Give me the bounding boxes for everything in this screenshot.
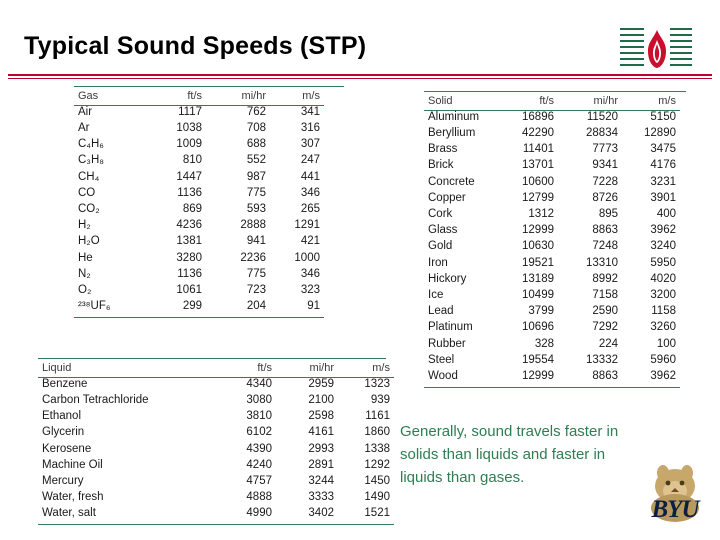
material-name: Lead (424, 304, 498, 320)
material-name: ²³⁸UF₆ (74, 299, 144, 315)
speed-value: 421 (270, 234, 324, 250)
material-name: C₄H₆ (74, 137, 144, 153)
table-row: Concrete1060072283231 (424, 174, 680, 190)
table-row: Gold1063072483240 (424, 239, 680, 255)
table-row: Aluminum16896115205150 (424, 109, 680, 125)
table-row: O₂1061723323 (74, 282, 324, 298)
table-row: Machine Oil424028911292 (38, 457, 394, 473)
speed-value: 7228 (558, 174, 622, 190)
material-name: C₃H₈ (74, 153, 144, 169)
speed-value: 16896 (498, 109, 558, 125)
speed-value: 2891 (276, 457, 338, 473)
slide: Typical Sound Speeds (STP) Gasft/smi/hrm… (0, 0, 720, 540)
speed-value: 91 (270, 299, 324, 315)
speed-value: 1291 (270, 218, 324, 234)
material-name: Brick (424, 158, 498, 174)
title-divider (8, 74, 712, 76)
speed-value: 6102 (216, 425, 276, 441)
column-header: Liquid (38, 360, 216, 376)
speed-value: 4757 (216, 473, 276, 489)
speed-value: 10600 (498, 174, 558, 190)
gases-table: Gasft/smi/hrm/sAir1117762341Ar1038708316… (74, 88, 324, 315)
table-row: N₂1136775346 (74, 266, 324, 282)
speed-value: 7248 (558, 239, 622, 255)
speed-value: 323 (270, 282, 324, 298)
material-name: Glycerin (38, 425, 216, 441)
speed-value: 19554 (498, 352, 558, 368)
column-header: ft/s (144, 88, 206, 104)
table-row: CH₄1447987441 (74, 169, 324, 185)
speed-value: 3799 (498, 304, 558, 320)
summary-note: Generally, sound travels faster in solid… (400, 420, 650, 489)
speed-value: 939 (338, 392, 394, 408)
solids-table-bottom-rule (424, 387, 680, 388)
speed-value: 869 (144, 201, 206, 217)
table-row: He328022361000 (74, 250, 324, 266)
speed-value: 13310 (558, 255, 622, 271)
speed-value: 19521 (498, 255, 558, 271)
material-name: Concrete (424, 174, 498, 190)
speed-value: 1009 (144, 137, 206, 153)
material-name: Benzene (38, 376, 216, 392)
material-name: Mercury (38, 473, 216, 489)
material-name: Machine Oil (38, 457, 216, 473)
speed-value: 346 (270, 266, 324, 282)
speed-value: 8863 (558, 223, 622, 239)
speed-value: 7773 (558, 142, 622, 158)
byu-logo: BYU (636, 462, 714, 534)
speed-value: 4340 (216, 376, 276, 392)
speed-value: 10696 (498, 320, 558, 336)
speed-value: 316 (270, 120, 324, 136)
speed-value: 810 (144, 153, 206, 169)
table-row: ²³⁸UF₆29920491 (74, 299, 324, 315)
table-row: Brass1140177733475 (424, 142, 680, 158)
column-header: m/s (622, 93, 680, 109)
liquids-table: Liquidft/smi/hrm/sBenzene434029591323Car… (38, 360, 394, 522)
table-row: Copper1279987263901 (424, 190, 680, 206)
speed-value: 895 (558, 206, 622, 222)
speed-value: 10499 (498, 287, 558, 303)
speed-value: 4390 (216, 441, 276, 457)
table-header-row: Solidft/smi/hrm/s (424, 93, 680, 109)
byu-wordmark: BYU (636, 496, 714, 524)
table-row: Ar1038708316 (74, 120, 324, 136)
table-row: Benzene434029591323 (38, 376, 394, 392)
material-name: Brass (424, 142, 498, 158)
speed-value: 5960 (622, 352, 680, 368)
speed-value: 4990 (216, 506, 276, 522)
speed-value: 1312 (498, 206, 558, 222)
speed-value: 4888 (216, 490, 276, 506)
table-row: CO1136775346 (74, 185, 324, 201)
table-row: Air1117762341 (74, 104, 324, 120)
title-divider-secondary (8, 78, 712, 79)
speed-value: 1450 (338, 473, 394, 489)
material-name: Copper (424, 190, 498, 206)
speed-value: 941 (206, 234, 270, 250)
speed-value: 1136 (144, 185, 206, 201)
speed-value: 1490 (338, 490, 394, 506)
speed-value: 1447 (144, 169, 206, 185)
speed-value: 224 (558, 336, 622, 352)
column-header: mi/hr (558, 93, 622, 109)
speed-value: 3280 (144, 250, 206, 266)
material-name: Ethanol (38, 409, 216, 425)
speed-value: 3333 (276, 490, 338, 506)
material-name: Hickory (424, 271, 498, 287)
material-name: Iron (424, 255, 498, 271)
table-row: Iron19521133105950 (424, 255, 680, 271)
material-name: H₂O (74, 234, 144, 250)
material-name: Water, fresh (38, 490, 216, 506)
speed-value: 346 (270, 185, 324, 201)
material-name: N₂ (74, 266, 144, 282)
material-name: Gold (424, 239, 498, 255)
speed-value: 688 (206, 137, 270, 153)
table-row: Ethanol381025981161 (38, 409, 394, 425)
speed-value: 1161 (338, 409, 394, 425)
speed-value: 12999 (498, 368, 558, 384)
speed-value: 5950 (622, 255, 680, 271)
material-name: CO (74, 185, 144, 201)
speed-value: 723 (206, 282, 270, 298)
table-header-row: Liquidft/smi/hrm/s (38, 360, 394, 376)
speed-value: 987 (206, 169, 270, 185)
material-name: Beryllium (424, 125, 498, 141)
column-header: ft/s (216, 360, 276, 376)
speed-value: 2598 (276, 409, 338, 425)
solids-table: Solidft/smi/hrm/sAluminum16896115205150B… (424, 93, 680, 385)
table-row: C₄H₆1009688307 (74, 137, 324, 153)
speed-value: 1061 (144, 282, 206, 298)
column-header: m/s (338, 360, 394, 376)
flame-icon (644, 28, 670, 70)
speed-value: 307 (270, 137, 324, 153)
speed-value: 1038 (144, 120, 206, 136)
material-name: Glass (424, 223, 498, 239)
material-name: Rubber (424, 336, 498, 352)
speed-value: 3962 (622, 223, 680, 239)
column-header: mi/hr (206, 88, 270, 104)
column-header: mi/hr (276, 360, 338, 376)
material-name: He (74, 250, 144, 266)
speed-value: 775 (206, 266, 270, 282)
speed-value: 12999 (498, 223, 558, 239)
table-row: Mercury475732441450 (38, 473, 394, 489)
speed-value: 3260 (622, 320, 680, 336)
table-row: Wood1299988633962 (424, 368, 680, 384)
speed-value: 328 (498, 336, 558, 352)
speed-value: 7158 (558, 287, 622, 303)
material-name: Water, salt (38, 506, 216, 522)
column-header: m/s (270, 88, 324, 104)
speed-value: 7292 (558, 320, 622, 336)
material-name: Carbon Tetrachloride (38, 392, 216, 408)
speed-value: 3475 (622, 142, 680, 158)
speed-value: 265 (270, 201, 324, 217)
column-header: Gas (74, 88, 144, 104)
speed-value: 299 (144, 299, 206, 315)
speed-value: 775 (206, 185, 270, 201)
speed-value: 762 (206, 104, 270, 120)
material-name: Wood (424, 368, 498, 384)
speed-value: 1521 (338, 506, 394, 522)
speed-value: 11401 (498, 142, 558, 158)
speed-value: 3231 (622, 174, 680, 190)
liquids-table-top-rule (38, 358, 386, 359)
speed-value: 2959 (276, 376, 338, 392)
speed-value: 708 (206, 120, 270, 136)
speed-value: 247 (270, 153, 324, 169)
page-title: Typical Sound Speeds (STP) (24, 32, 366, 61)
speed-value: 1338 (338, 441, 394, 457)
table-row: Rubber328224100 (424, 336, 680, 352)
speed-value: 4236 (144, 218, 206, 234)
speed-value: 42290 (498, 125, 558, 141)
column-header: ft/s (498, 93, 558, 109)
speed-value: 12890 (622, 125, 680, 141)
speed-value: 12799 (498, 190, 558, 206)
table-row: Glass1299988633962 (424, 223, 680, 239)
speed-value: 1158 (622, 304, 680, 320)
speed-value: 1323 (338, 376, 394, 392)
speed-value: 1860 (338, 425, 394, 441)
speed-value: 28834 (558, 125, 622, 141)
table-row: Water, fresh488833331490 (38, 490, 394, 506)
table-row: Beryllium422902883412890 (424, 125, 680, 141)
speed-value: 2888 (206, 218, 270, 234)
material-name: CO₂ (74, 201, 144, 217)
table-row: Carbon Tetrachloride30802100939 (38, 392, 394, 408)
speed-value: 341 (270, 104, 324, 120)
speed-value: 3901 (622, 190, 680, 206)
logo (620, 26, 692, 72)
gases-table-bottom-rule (74, 317, 324, 318)
material-name: Air (74, 104, 144, 120)
table-row: C₃H₈810552247 (74, 153, 324, 169)
speed-value: 441 (270, 169, 324, 185)
speed-value: 4240 (216, 457, 276, 473)
table-row: Lead379925901158 (424, 304, 680, 320)
table-row: Brick1370193414176 (424, 158, 680, 174)
table-row: H₂O1381941421 (74, 234, 324, 250)
speed-value: 8863 (558, 368, 622, 384)
speed-value: 2993 (276, 441, 338, 457)
speed-value: 2100 (276, 392, 338, 408)
speed-value: 1000 (270, 250, 324, 266)
speed-value: 1381 (144, 234, 206, 250)
speed-value: 10630 (498, 239, 558, 255)
speed-value: 3244 (276, 473, 338, 489)
table-row: Kerosene439029931338 (38, 441, 394, 457)
material-name: Platinum (424, 320, 498, 336)
table-row: Hickory1318989924020 (424, 271, 680, 287)
table-header-row: Gasft/smi/hrm/s (74, 88, 324, 104)
table-row: Water, salt499034021521 (38, 506, 394, 522)
material-name: Cork (424, 206, 498, 222)
speed-value: 4161 (276, 425, 338, 441)
gases-table-top-rule (74, 86, 344, 87)
table-row: Steel19554133325960 (424, 352, 680, 368)
speed-value: 8726 (558, 190, 622, 206)
table-row: Glycerin610241611860 (38, 425, 394, 441)
table-row: Cork1312895400 (424, 206, 680, 222)
material-name: Aluminum (424, 109, 498, 125)
speed-value: 13332 (558, 352, 622, 368)
material-name: Ar (74, 120, 144, 136)
speed-value: 1292 (338, 457, 394, 473)
gases-header-rule (74, 105, 324, 106)
speed-value: 8992 (558, 271, 622, 287)
speed-value: 2590 (558, 304, 622, 320)
material-name: O₂ (74, 282, 144, 298)
speed-value: 11520 (558, 109, 622, 125)
speed-value: 400 (622, 206, 680, 222)
solids-header-rule (424, 110, 680, 111)
speed-value: 4176 (622, 158, 680, 174)
speed-value: 3402 (276, 506, 338, 522)
speed-value: 13701 (498, 158, 558, 174)
speed-value: 2236 (206, 250, 270, 266)
liquids-header-rule (38, 377, 394, 378)
speed-value: 552 (206, 153, 270, 169)
material-name: H₂ (74, 218, 144, 234)
material-name: Kerosene (38, 441, 216, 457)
speed-value: 3240 (622, 239, 680, 255)
speed-value: 204 (206, 299, 270, 315)
speed-value: 1117 (144, 104, 206, 120)
speed-value: 593 (206, 201, 270, 217)
speed-value: 3080 (216, 392, 276, 408)
speed-value: 5150 (622, 109, 680, 125)
table-row: CO₂869593265 (74, 201, 324, 217)
liquids-table-bottom-rule (38, 524, 394, 525)
material-name: Ice (424, 287, 498, 303)
speed-value: 4020 (622, 271, 680, 287)
speed-value: 3200 (622, 287, 680, 303)
table-row: Platinum1069672923260 (424, 320, 680, 336)
speed-value: 100 (622, 336, 680, 352)
solids-table-top-rule (424, 91, 686, 92)
speed-value: 9341 (558, 158, 622, 174)
table-row: H₂423628881291 (74, 218, 324, 234)
speed-value: 13189 (498, 271, 558, 287)
speed-value: 3962 (622, 368, 680, 384)
speed-value: 3810 (216, 409, 276, 425)
column-header: Solid (424, 93, 498, 109)
speed-value: 1136 (144, 266, 206, 282)
table-row: Ice1049971583200 (424, 287, 680, 303)
material-name: CH₄ (74, 169, 144, 185)
material-name: Steel (424, 352, 498, 368)
